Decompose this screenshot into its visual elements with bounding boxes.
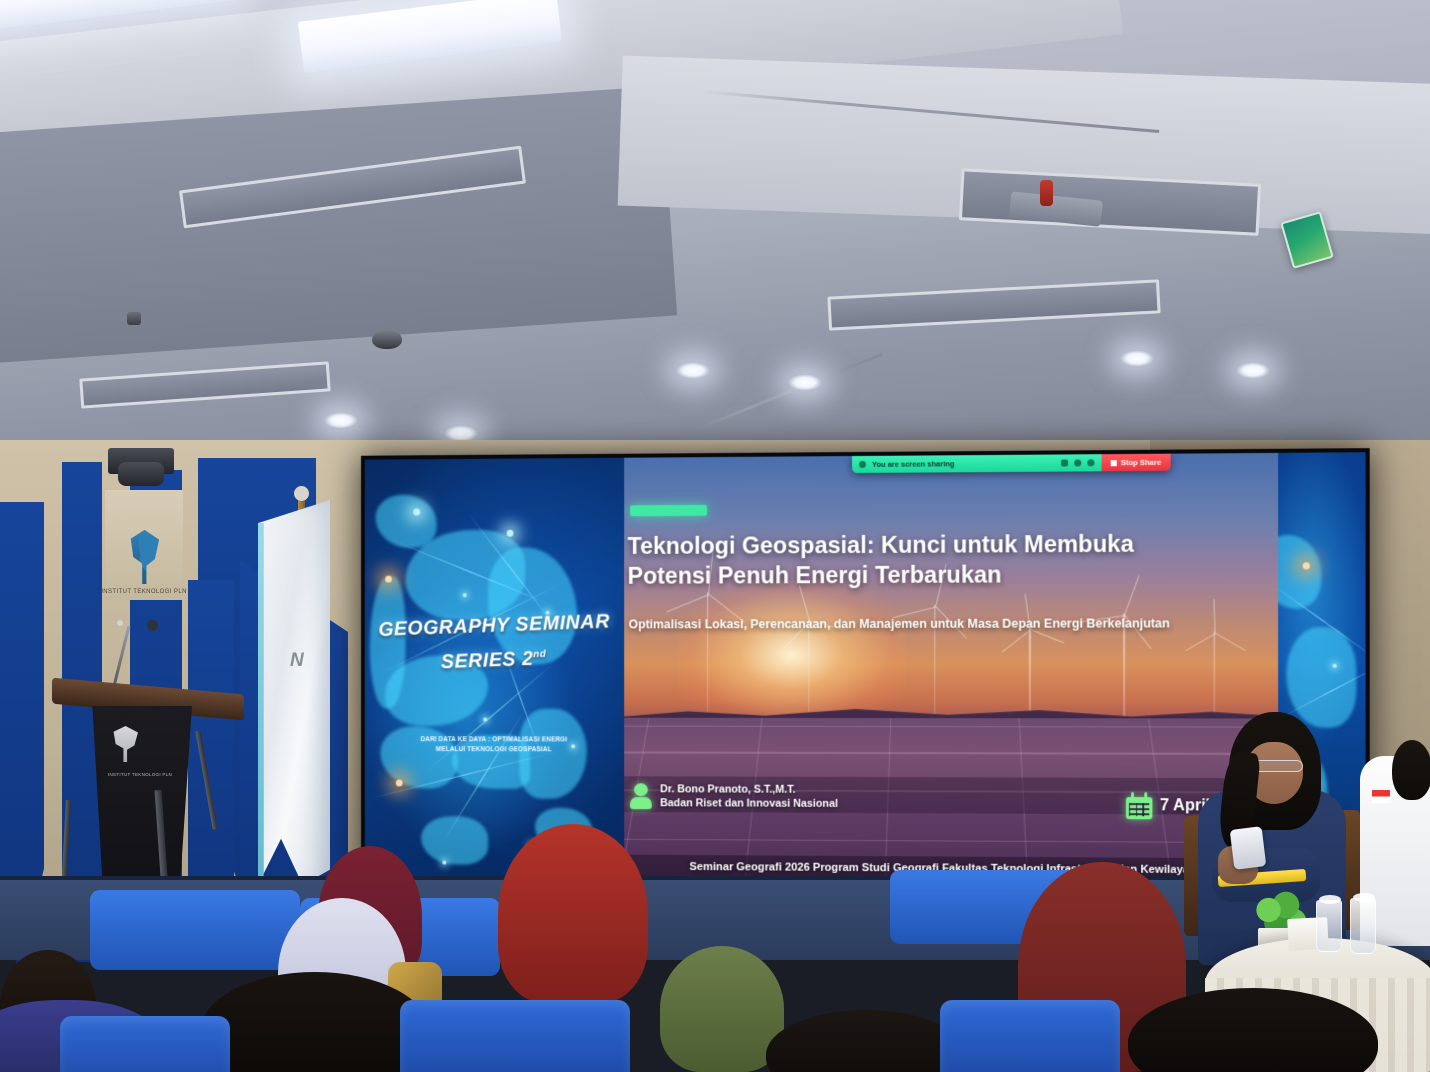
screen-share-toolbar[interactable]: You are screen sharing Stop Share xyxy=(852,454,1170,473)
stop-share-button[interactable]: Stop Share xyxy=(1102,454,1171,472)
slide-title: Teknologi Geospasial: Kunci untuk Membuk… xyxy=(628,528,1262,591)
slide-speaker-name: Dr. Bono Pranoto, S.T.,M.T. xyxy=(660,782,838,797)
annotate-icon[interactable] xyxy=(1074,459,1081,466)
wall-logo-plaque: INSTITUT TEKNOLOGI PLN xyxy=(105,490,183,600)
slide-speaker-block: Dr. Bono Pranoto, S.T.,M.T. Badan Riset … xyxy=(630,782,838,812)
flag-pole-finial xyxy=(294,486,309,501)
audience-chair[interactable] xyxy=(400,1000,630,1072)
air-vent xyxy=(827,279,1160,330)
ceiling-recess xyxy=(0,86,677,364)
pln-leaf-icon xyxy=(129,530,159,584)
slide-title-line2: Potensi Penuh Energi Terbarukan xyxy=(628,558,1262,590)
drinking-glass xyxy=(1316,900,1342,952)
podium-caption: INSTITUT TEKNOLOGI PLN xyxy=(95,772,185,777)
fire-sprinkler-head xyxy=(1040,180,1053,206)
wall-speaker-box xyxy=(118,462,164,486)
slide-left-title-line1: GEOGRAPHY SEMINAR xyxy=(365,610,624,642)
slide-left-subtitle-line1: DARI DATA KE DAYA : OPTIMALISASI ENERGI xyxy=(380,735,608,745)
slide-main-panel: Teknologi Geospasial: Kunci untuk Membuk… xyxy=(624,453,1278,911)
downlight xyxy=(788,374,822,391)
podium-mic-head xyxy=(147,620,158,631)
stop-icon xyxy=(1111,460,1117,466)
security-camera-icon xyxy=(372,330,402,349)
microphone-icon xyxy=(117,620,123,626)
ceiling-pipe xyxy=(697,353,884,431)
seminar-hall-photo: INSTITUT TEKNOLOGI PLN xyxy=(0,0,1430,1072)
downlight xyxy=(324,412,358,429)
calendar-icon xyxy=(1126,792,1152,819)
audience-member xyxy=(498,824,648,1004)
slide-speaker-affiliation: Badan Riset dan Innovasi Nasional xyxy=(660,797,838,812)
smartphone[interactable] xyxy=(1230,826,1267,870)
audience-chair[interactable] xyxy=(60,1016,230,1072)
drinking-glass xyxy=(1350,898,1376,954)
audience-member xyxy=(766,1010,966,1072)
slide-left-title-line2: SERIES 2nd xyxy=(365,645,624,677)
sharing-status-label: You are screen sharing xyxy=(872,459,955,469)
downlight xyxy=(676,362,710,379)
person-icon xyxy=(630,784,652,810)
slide-subtitle: Optimalisasi Lokasi, Perencanaan, dan Ma… xyxy=(629,615,1268,632)
ceiling xyxy=(0,0,1430,470)
share-indicator-icon xyxy=(859,461,866,468)
flag-emblem-icon: N xyxy=(290,650,312,696)
downlight xyxy=(1120,350,1154,367)
pause-icon[interactable] xyxy=(1061,459,1068,466)
slide-left-subtitle-line2: MELALUI TEKNOLOGI GEOSPASIAL xyxy=(380,745,608,755)
stop-share-label: Stop Share xyxy=(1121,458,1161,467)
slide-accent-bar xyxy=(630,505,707,516)
audience-chair[interactable] xyxy=(940,1000,1120,1072)
slide-speaker-text: Dr. Bono Pranoto, S.T.,M.T. Badan Riset … xyxy=(660,782,838,812)
panelist-head xyxy=(1392,740,1430,800)
downlight xyxy=(1236,362,1270,379)
more-options-icon[interactable] xyxy=(1087,459,1094,466)
slide-title-line1: Teknologi Geospasial: Kunci untuk Membuk… xyxy=(628,528,1262,561)
indonesian-flag-patch-icon xyxy=(1372,790,1390,803)
wall-plaque-label: INSTITUT TEKNOLOGI PLN xyxy=(101,589,187,595)
slide-left-subtitle: DARI DATA KE DAYA : OPTIMALISASI ENERGI … xyxy=(380,735,608,755)
audience-chair[interactable] xyxy=(90,890,300,970)
ceiling-sensor xyxy=(127,312,141,325)
sharing-status: You are screen sharing xyxy=(852,454,1102,473)
air-vent xyxy=(79,361,330,408)
slide-left-title: GEOGRAPHY SEMINAR SERIES 2nd xyxy=(365,615,624,673)
